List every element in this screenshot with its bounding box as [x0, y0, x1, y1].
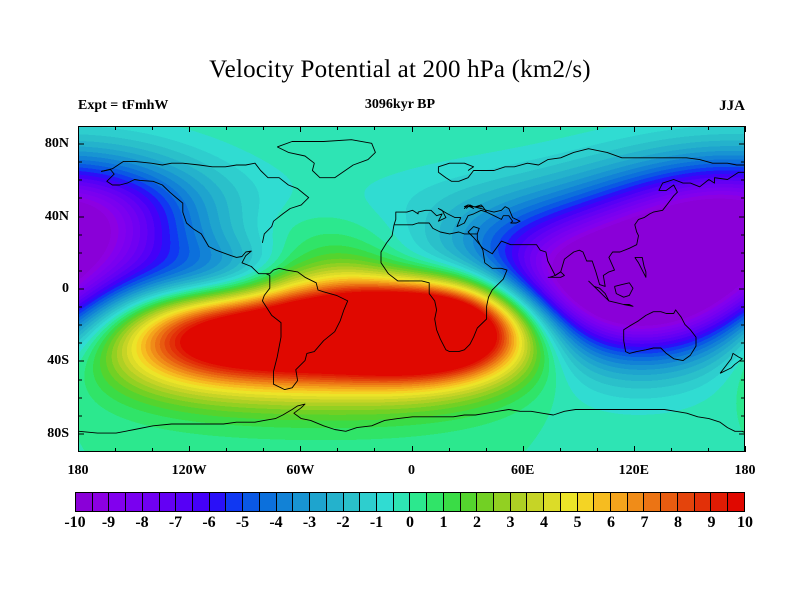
x-axis-tick-label: 60E — [511, 463, 534, 479]
colorbar-cell — [125, 493, 142, 511]
colorbar-cell — [276, 493, 293, 511]
colorbar-cell — [175, 493, 192, 511]
x-axis-minor-tick — [449, 126, 450, 130]
y-axis-tick — [739, 433, 745, 434]
colorbar-tick-label: 6 — [607, 514, 615, 532]
y-axis-minor-tick — [78, 162, 82, 163]
x-axis-minor-tick — [486, 448, 487, 452]
colorbar-cell — [710, 493, 727, 511]
y-axis-minor-tick — [78, 415, 82, 416]
colorbar-cell — [426, 493, 443, 511]
colorbar-cell — [108, 493, 125, 511]
colorbar-cell — [727, 493, 744, 511]
y-axis-minor-tick — [78, 397, 82, 398]
y-axis-minor-tick — [741, 397, 745, 398]
y-axis-tick-label: 40N — [45, 209, 69, 225]
colorbar-cell — [242, 493, 259, 511]
colorbar-tick-label: 0 — [406, 514, 414, 532]
x-axis-tick — [300, 126, 301, 132]
y-axis-minor-tick — [741, 234, 745, 235]
colorbar-cell — [443, 493, 460, 511]
colorbar-tick-label: -10 — [64, 514, 85, 532]
colorbar-cell — [643, 493, 660, 511]
y-axis-minor-tick — [78, 234, 82, 235]
colorbar-cell — [76, 493, 92, 511]
colorbar-cell — [493, 493, 510, 511]
x-axis-tick — [634, 446, 635, 452]
y-axis-tick — [78, 433, 84, 434]
colorbar-cell — [259, 493, 276, 511]
y-axis-tick — [739, 361, 745, 362]
x-axis-minor-tick — [115, 126, 116, 130]
colorbar-cell — [660, 493, 677, 511]
colorbar-cell — [292, 493, 309, 511]
x-axis-tick — [523, 126, 524, 132]
contour-bands — [79, 127, 745, 452]
x-axis-minor-tick — [449, 448, 450, 452]
colorbar-tick-label: 10 — [737, 514, 753, 532]
colorbar-tick-label: -7 — [169, 514, 182, 532]
x-axis-minor-tick — [671, 126, 672, 130]
contour-field — [78, 126, 745, 452]
colorbar-tick-label: -3 — [303, 514, 316, 532]
experiment-label: Expt = tFmhW — [78, 98, 168, 114]
x-axis-minor-tick — [152, 448, 153, 452]
y-axis-minor-tick — [78, 270, 82, 271]
y-axis-minor-tick — [741, 198, 745, 199]
y-axis-minor-tick — [78, 379, 82, 380]
colorbar-cell — [92, 493, 109, 511]
x-axis-minor-tick — [597, 126, 598, 130]
y-axis-tick — [78, 361, 84, 362]
x-axis-tick — [189, 446, 190, 452]
velocity-potential-figure: Velocity Potential at 200 hPa (km2/s) 30… — [0, 0, 800, 600]
colorbar-cell — [510, 493, 527, 511]
x-axis-minor-tick — [152, 126, 153, 130]
x-axis-tick — [412, 446, 413, 452]
x-axis-tick — [300, 446, 301, 452]
colorbar-cell — [159, 493, 176, 511]
x-axis-tick-label: 120E — [619, 463, 649, 479]
x-axis-minor-tick — [263, 448, 264, 452]
x-axis-tick-label: 180 — [735, 463, 756, 479]
x-axis-minor-tick — [671, 448, 672, 452]
y-axis-tick-label: 40S — [47, 353, 69, 369]
x-axis-minor-tick — [115, 448, 116, 452]
x-axis-tick-label: 120W — [172, 463, 207, 479]
colorbar-cell — [694, 493, 711, 511]
y-axis-tick — [78, 216, 84, 217]
y-axis-minor-tick — [78, 343, 82, 344]
y-axis-minor-tick — [78, 198, 82, 199]
x-axis-minor-tick — [337, 126, 338, 130]
x-axis-minor-tick — [597, 448, 598, 452]
x-axis-tick — [78, 126, 79, 132]
colorbar-cell — [627, 493, 644, 511]
colorbar-cell — [560, 493, 577, 511]
colorbar-cell — [460, 493, 477, 511]
colorbar-tick-label: 9 — [708, 514, 716, 532]
colorbar-tick-label: 1 — [440, 514, 448, 532]
y-axis-tick — [739, 289, 745, 290]
x-axis-minor-tick — [226, 126, 227, 130]
y-axis-tick — [78, 144, 84, 145]
colorbar-tick-label: 3 — [507, 514, 515, 532]
colorbar-tick-label: 4 — [540, 514, 548, 532]
colorbar-cell — [677, 493, 694, 511]
x-axis-tick-label: 180 — [68, 463, 89, 479]
colorbar-tick-label: -4 — [269, 514, 282, 532]
x-axis-minor-tick — [374, 448, 375, 452]
y-axis-minor-tick — [741, 343, 745, 344]
y-axis-minor-tick — [741, 162, 745, 163]
y-axis-minor-tick — [78, 180, 82, 181]
colorbar-cell — [309, 493, 326, 511]
colorbar-cell — [343, 493, 360, 511]
colorbar-cell — [359, 493, 376, 511]
y-axis-minor-tick — [741, 252, 745, 253]
colorbar-tick-label: 5 — [574, 514, 582, 532]
map-plot-area: 180120W60W060E120E18080N40N040S80S — [78, 126, 745, 452]
colorbar-tick-label: -9 — [102, 514, 115, 532]
colorbar-cell — [209, 493, 226, 511]
x-axis-minor-tick — [263, 126, 264, 130]
x-axis-minor-tick — [337, 448, 338, 452]
x-axis-tick — [189, 126, 190, 132]
colorbar-tick-label: 7 — [641, 514, 649, 532]
colorbar-tick-label: -8 — [135, 514, 148, 532]
colorbar-cell — [225, 493, 242, 511]
x-axis-minor-tick — [560, 126, 561, 130]
y-axis-tick — [739, 216, 745, 217]
y-axis-minor-tick — [78, 325, 82, 326]
y-axis-tick-label: 0 — [62, 281, 69, 297]
y-axis-minor-tick — [741, 180, 745, 181]
x-axis-tick-label: 0 — [408, 463, 415, 479]
colorbar-tick-label: -5 — [236, 514, 249, 532]
y-axis-minor-tick — [741, 270, 745, 271]
y-axis-tick — [78, 289, 84, 290]
season-label: JJA — [719, 98, 745, 115]
x-axis-minor-tick — [486, 126, 487, 130]
x-axis-tick-label: 60W — [286, 463, 314, 479]
colorbar-cell — [376, 493, 393, 511]
x-axis-minor-tick — [708, 448, 709, 452]
y-axis-minor-tick — [78, 252, 82, 253]
x-axis-tick — [523, 446, 524, 452]
y-axis-minor-tick — [78, 307, 82, 308]
colorbar-cell — [326, 493, 343, 511]
colorbar-swatches — [75, 492, 745, 512]
y-axis-tick-label: 80N — [45, 136, 69, 152]
y-axis-tick-label: 80S — [47, 426, 69, 442]
y-axis-minor-tick — [741, 307, 745, 308]
colorbar-cell — [142, 493, 159, 511]
y-axis-tick — [739, 144, 745, 145]
x-axis-tick — [745, 126, 746, 132]
colorbar-cell — [577, 493, 594, 511]
colorbar-cell — [526, 493, 543, 511]
colorbar-tick-label: -1 — [370, 514, 383, 532]
colorbar-cell — [409, 493, 426, 511]
x-axis-tick — [745, 446, 746, 452]
y-axis-minor-tick — [741, 379, 745, 380]
colorbar-cell — [593, 493, 610, 511]
colorbar-cell — [393, 493, 410, 511]
colorbar-tick-label: -2 — [336, 514, 349, 532]
colorbar-tick-label: 2 — [473, 514, 481, 532]
colorbar: -10-9-8-7-6-5-4-3-2-1012345678910 — [75, 492, 745, 512]
x-axis-tick — [634, 126, 635, 132]
colorbar-cell — [610, 493, 627, 511]
y-axis-minor-tick — [741, 325, 745, 326]
colorbar-cell — [543, 493, 560, 511]
x-axis-minor-tick — [374, 126, 375, 130]
colorbar-cell — [476, 493, 493, 511]
colorbar-tick-label: -6 — [202, 514, 215, 532]
colorbar-cell — [192, 493, 209, 511]
x-axis-tick — [412, 126, 413, 132]
colorbar-tick-label: 8 — [674, 514, 682, 532]
x-axis-minor-tick — [708, 126, 709, 130]
x-axis-tick — [78, 446, 79, 452]
page-title: Velocity Potential at 200 hPa (km2/s) — [0, 56, 800, 84]
y-axis-minor-tick — [741, 415, 745, 416]
x-axis-minor-tick — [560, 448, 561, 452]
x-axis-minor-tick — [226, 448, 227, 452]
